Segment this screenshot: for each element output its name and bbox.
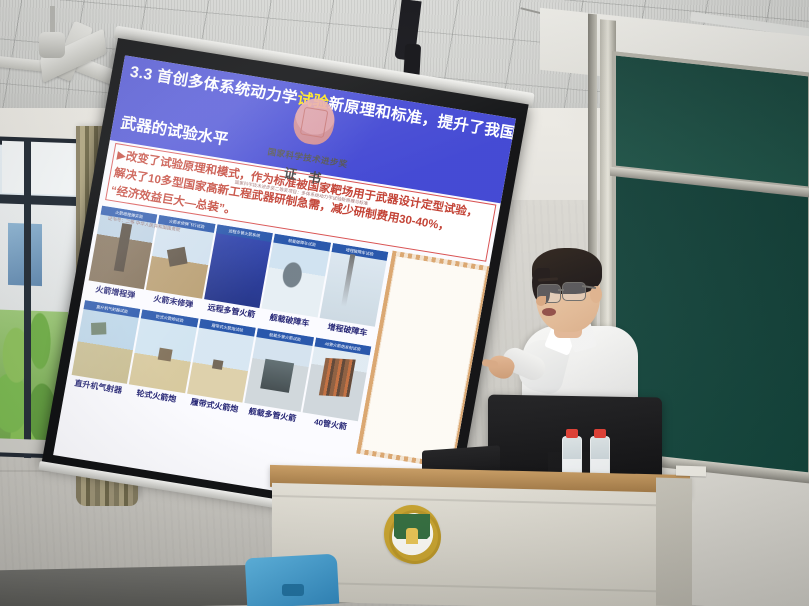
photo-cell: 40管火箭炮发射试验 [302,337,371,421]
photo-header: 40管火箭炮发射试验 [314,337,371,355]
chair-handle-slot [282,584,304,596]
photo-header: 直升机气射器试验 [83,300,140,318]
photo-cell: 直升机气射器试验 [72,300,141,384]
photo-cell: 舰载破障车试验 [262,234,331,318]
classroom-photo-scene: 3.3 首创多体系统动力学试验新原理和标准，提升了我国 武器的试验水平 ▶改变了… [0,0,809,606]
photo-header: 舰载多管火箭试验 [256,328,313,346]
photo-header: 远程多管火箭系统 [216,224,273,242]
photo-header: 舰载破障车试验 [273,234,330,252]
photo-cell: 舰载多管火箭试验 [245,328,314,412]
fan-rod [50,6,55,34]
bottle-label [563,459,581,473]
photo-header: 履带式火箭炮试验 [199,319,256,337]
ceiling-fan-icon [39,32,65,58]
photo-cell: 远程多管火箭系统 [204,224,273,308]
presenter-mouth [542,308,556,316]
bottle-cap [594,429,606,438]
projection-screen: 3.3 首创多体系统动力学试验新原理和标准，提升了我国 武器的试验水平 ▶改变了… [118,38,548,488]
emblem-lamp-icon [406,528,418,544]
photo-header: 轮式火箭炮试验 [141,309,198,327]
window-top-pane [2,141,76,196]
blue-chair[interactable] [245,554,339,606]
eyeglasses-bridge [558,289,564,291]
photo-cell: 轮式火箭炮试验 [129,309,198,393]
window-mullion-vertical [24,140,31,458]
photo-cell: 增程破障车试验 [319,243,388,327]
podium-side-panel [656,478,692,606]
paper-note[interactable] [676,465,706,476]
bottle-cap [566,429,578,438]
photo-cell: 履带式火箭炮试验 [187,319,256,403]
seal-inner-icon [300,107,329,138]
bottle-label [591,459,609,473]
presenter-nose [536,296,546,306]
photo-header: 增程破障车试验 [331,243,388,261]
presenter-ear [590,286,602,303]
